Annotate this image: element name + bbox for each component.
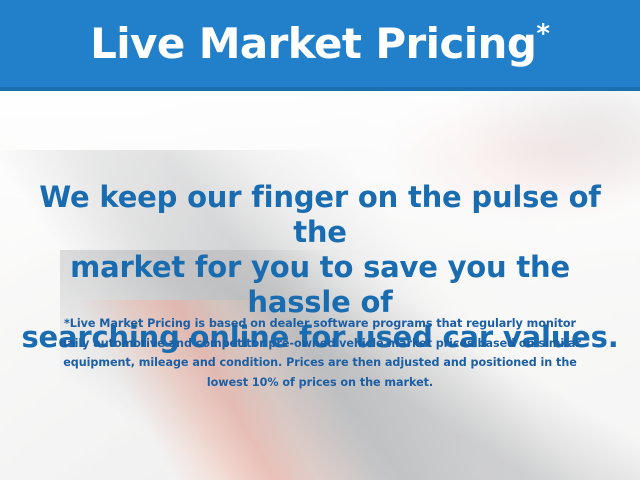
content-area: We keep our finger on the pulse of the m… xyxy=(0,91,640,480)
headline-line-2: market for you to save you the hassle of xyxy=(70,250,570,319)
fineprint-line-2: daily automotive and competitor pre-owne… xyxy=(59,337,581,350)
headline-line-1: We keep our finger on the pulse of the xyxy=(39,180,600,249)
header-bar: Live Market Pricing* xyxy=(0,0,640,91)
fineprint-line-4: lowest 10% of prices on the market. xyxy=(207,376,433,389)
page-title-asterisk: * xyxy=(536,19,550,49)
live-market-pricing-banner: Live Market Pricing* We keep our finger … xyxy=(0,0,640,480)
fineprint-line-1: *Live Market Pricing is based on dealer … xyxy=(64,317,576,330)
page-title: Live Market Pricing* xyxy=(90,21,550,67)
fineprint-line-3: equipment, mileage and condition. Prices… xyxy=(63,356,577,369)
fineprint-disclaimer: *Live Market Pricing is based on dealer … xyxy=(22,314,618,392)
page-title-text: Live Market Pricing xyxy=(90,19,536,68)
